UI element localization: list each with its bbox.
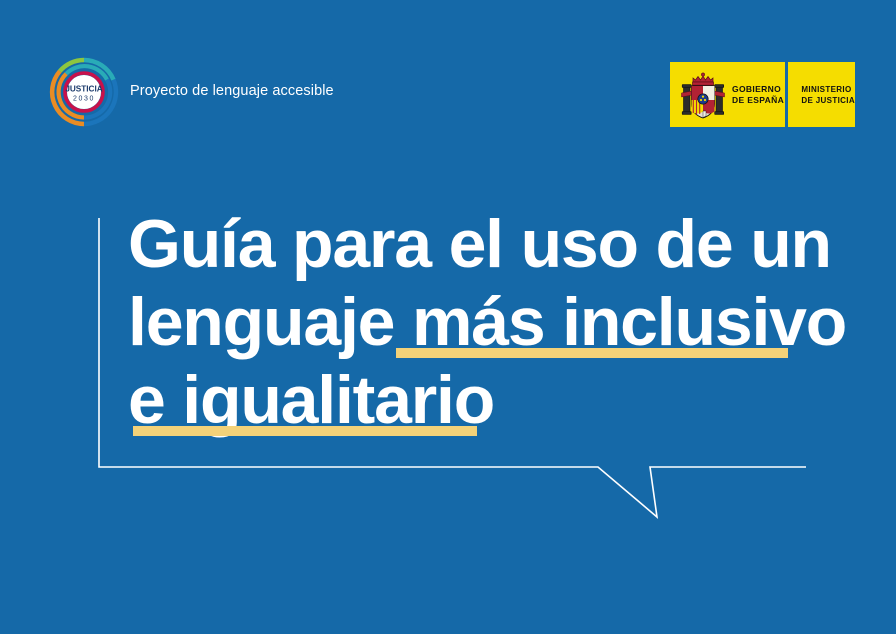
justicia-2030-logo: JUSTICIA 2030	[48, 56, 120, 128]
project-tagline: Proyecto de lenguaje accesible	[130, 83, 334, 99]
gobierno-de-espana-label: GOBIERNO DE ESPAÑA	[732, 84, 784, 106]
ministry-line-2: DE JUSTICIA	[801, 95, 855, 106]
page-title: Guía para el uso de un lenguaje más incl…	[128, 205, 828, 439]
gobierno-de-espana-block: GOBIERNO DE ESPAÑA	[670, 62, 785, 127]
ministerio-de-justicia-block: MINISTERIO DE JUSTICIA	[788, 62, 855, 127]
title-underline-line-3	[133, 426, 477, 436]
ministerio-label: MINISTERIO DE JUSTICIA	[788, 84, 855, 106]
gov-line-2: DE ESPAÑA	[732, 95, 784, 106]
logo-secondary-text: 2030	[73, 96, 95, 103]
government-emblem: GOBIERNO DE ESPAÑA MINISTERIO DE JUSTICI…	[670, 62, 855, 127]
gov-line-1: GOBIERNO	[732, 84, 784, 95]
logo-primary-text: JUSTICIA	[65, 85, 102, 94]
title-line-2-plain: lenguaje	[128, 284, 412, 360]
ministry-line-1: MINISTERIO	[801, 84, 855, 95]
spain-coat-of-arms-icon	[680, 69, 726, 121]
title-line-1: Guía para el uso de un	[128, 205, 828, 283]
title-underline-line-2	[396, 348, 788, 358]
cover-page: JUSTICIA 2030 Proyecto de lenguaje acces…	[0, 0, 896, 634]
header: JUSTICIA 2030 Proyecto de lenguaje acces…	[0, 0, 896, 150]
